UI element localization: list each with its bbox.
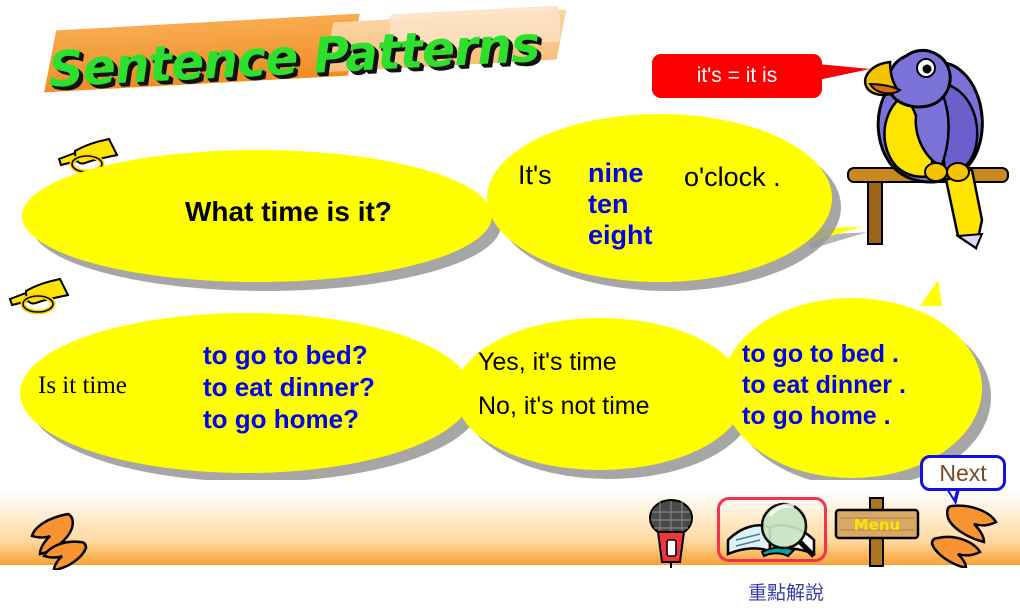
option-eat-dinner-a[interactable]: to eat dinner . (742, 370, 906, 401)
back-arrow-icon[interactable] (28, 510, 88, 570)
answer-affirmative: Yes, it's time (478, 348, 617, 377)
answer-options-actions: to go to bed . to eat dinner . to go hom… (742, 339, 906, 432)
parrot-mascot (840, 20, 1020, 250)
option-eight[interactable]: eight (588, 220, 653, 251)
option-ten[interactable]: ten (588, 189, 653, 220)
slide-canvas: Sentence Patterns it's = it is (0, 0, 1020, 616)
microphone-icon[interactable] (640, 498, 702, 568)
page-title: Sentence Patterns (46, 8, 569, 107)
option-go-to-bed-q[interactable]: to go to bed? (203, 339, 375, 371)
bubble-answer-time[interactable] (487, 114, 832, 282)
answer-prefix-its: It's (518, 160, 552, 191)
book-magnifier-icon[interactable] (722, 500, 822, 560)
option-eat-dinner-q[interactable]: to eat dinner? (203, 371, 375, 403)
explain-tool-label: 重點解說 (726, 578, 846, 605)
option-go-home-q[interactable]: to go home? (203, 403, 375, 435)
option-go-home-a[interactable]: to go home . (742, 401, 906, 432)
forward-arrow-icon[interactable] (930, 498, 1000, 568)
bubble-answer-actions-tail (920, 280, 942, 306)
option-nine[interactable]: nine (588, 158, 653, 189)
menu-signpost-icon[interactable]: Menu (832, 496, 924, 568)
grammar-note: it's = it is (652, 54, 822, 98)
answer-negative: No, it's not time (478, 392, 650, 421)
svg-text:Menu: Menu (854, 516, 900, 534)
answer-options-time: nine ten eight (588, 158, 653, 251)
question-what-time: What time is it? (185, 196, 392, 228)
question-prefix-isittime: Is it time (38, 372, 127, 400)
question-options-actions: to go to bed? to eat dinner? to go home? (203, 339, 375, 435)
option-go-to-bed-a[interactable]: to go to bed . (742, 339, 906, 370)
next-button[interactable]: Next (920, 455, 1006, 491)
trumpet-audio-icon-2[interactable] (6, 277, 72, 317)
answer-suffix-oclock: o'clock . (684, 162, 781, 193)
